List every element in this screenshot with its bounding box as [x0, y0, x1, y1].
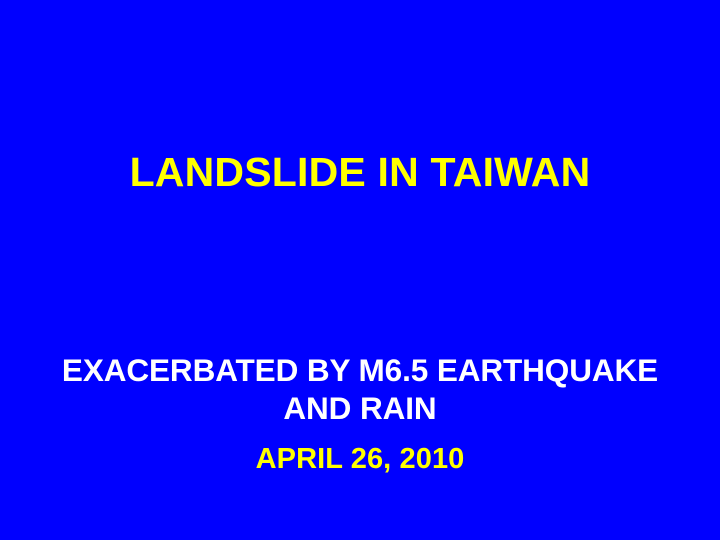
- slide-date: APRIL 26, 2010: [30, 428, 690, 477]
- slide-subtitle: EXACERBATED BY M6.5 EARTHQUAKE AND RAIN: [30, 352, 690, 428]
- presentation-slide: LANDSLIDE IN TAIWAN EXACERBATED BY M6.5 …: [0, 0, 720, 540]
- page-title: LANDSLIDE IN TAIWAN: [36, 148, 684, 196]
- title-placeholder: LANDSLIDE IN TAIWAN: [36, 148, 684, 196]
- subtitle-placeholder: EXACERBATED BY M6.5 EARTHQUAKE AND RAIN …: [30, 352, 690, 476]
